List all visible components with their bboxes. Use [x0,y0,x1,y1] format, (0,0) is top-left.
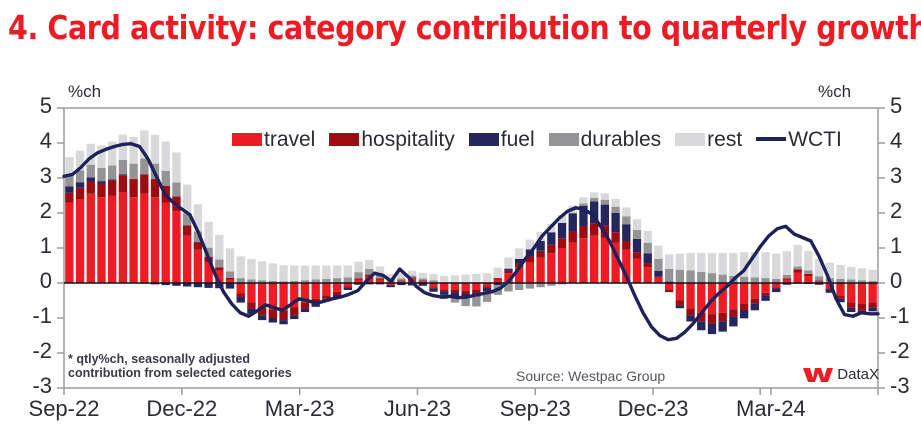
bar-segment [622,217,630,225]
bar-segment [504,270,512,273]
bar-segment [579,226,587,238]
bar-segment [558,248,566,283]
bar-segment [162,203,170,284]
bar-segment [301,309,309,313]
bar-segment [65,193,73,203]
bar-segment [515,248,523,259]
bar-segment [204,222,212,248]
bar-segment [344,288,352,290]
bar-segment [622,224,630,241]
bar-segment [312,266,320,280]
bar-segment [461,283,469,291]
bar-segment [87,165,95,178]
bar-segment [697,272,705,283]
bar-segment [279,311,287,320]
bar-segment [97,184,105,197]
bar-segment [719,275,727,283]
bar-segment [569,243,577,283]
bar-segment [847,302,855,308]
bar-segment [97,197,105,283]
bar-segment [590,223,598,236]
bar-segment [708,324,716,335]
bar-segment [836,265,844,279]
bar-segment [740,277,748,283]
bar-segment [87,182,95,194]
bar-segment [269,263,277,281]
bar-segment [729,309,737,316]
bar-segment [772,287,780,288]
bar-segment [354,278,362,279]
bar-segment [815,281,823,282]
bar-segment [172,183,180,197]
bar-segment [804,251,812,271]
bar-segment [569,213,577,231]
bar-segment [301,302,309,308]
bar-segment [162,171,170,186]
bar-segment [729,317,737,327]
bar-segment [676,254,684,270]
bar-segment [451,290,459,292]
bar-segment [654,246,662,259]
bar-segment [215,260,223,268]
bar-segment [633,239,641,252]
bar-segment [740,304,748,310]
bar-segment [97,181,105,184]
bar-segment [344,287,352,288]
bar-segment [386,285,394,287]
bar-segment [440,283,448,289]
bar-segment [536,251,544,258]
bar-segment [483,287,491,288]
bar-segment [579,204,587,206]
bar-segment [847,267,855,280]
bar-segment [772,289,780,293]
bar-segment [515,283,523,290]
bar-segment [504,257,512,268]
bar-segment [172,152,180,182]
bar-segment [751,283,759,299]
bar-segment [761,283,769,293]
bar-segment [279,320,287,324]
bar-segment [740,283,748,304]
bar-segment [868,308,876,312]
bar-segment [676,301,684,306]
bar-segment [847,283,855,302]
bar-segment [108,196,116,284]
bar-segment [129,179,137,197]
bar-segment [665,290,673,292]
bar-segment [237,294,245,298]
bar-segment [761,252,769,278]
bar-segment [676,270,684,283]
brand-logo: DataX [803,366,879,383]
bar-segment [494,278,502,279]
legend-item-hospitality[interactable]: hospitality [329,129,454,150]
source-label: Source: Westpac Group [516,368,665,384]
bar-segment [708,253,716,273]
bar-segment [65,186,73,192]
bar-group [65,130,877,334]
bar-segment [376,278,384,279]
bar-segment [451,275,459,283]
bar-segment [215,267,223,271]
bar-segment [472,283,480,290]
bar-segment [558,223,566,238]
bar-segment [804,276,812,283]
bar-segment [633,230,641,239]
bar-segment [633,252,641,258]
bar-segment [644,267,652,283]
bar-segment [429,287,437,288]
legend-item-fuel[interactable]: fuel [469,129,535,150]
bar-segment [483,273,491,283]
bar-segment [858,283,866,304]
bar-segment [151,135,159,164]
footnote: * qtly%ch, seasonally adjusted contribut… [68,352,292,380]
bar-segment [247,283,255,302]
bar-segment [108,179,116,180]
bar-segment [247,259,255,279]
bar-segment [708,273,716,283]
bar-segment [633,259,641,284]
bar-segment [172,211,180,283]
brand-name: DataX [837,366,879,383]
bar-segment [569,213,577,214]
bar-segment [140,194,148,283]
bar-segment [354,262,362,273]
legend-swatch [232,133,262,146]
legend-swatch [675,133,705,146]
legend-item-durables[interactable]: durables [549,129,662,150]
legend-item-rest[interactable]: rest [675,129,742,150]
chart-area: %ch %ch 543210-1-2-3 543210-1-2-3 Sep-22… [0,0,921,436]
bar-segment [686,283,694,308]
bar-segment [644,243,652,254]
bar-segment [419,281,427,282]
bar-segment [868,283,876,302]
bar-segment [719,313,727,321]
bar-segment [708,315,716,324]
bar-segment [644,231,652,243]
bar-segment [868,270,876,281]
bar-segment [183,225,191,236]
bar-segment [793,245,801,267]
bar-segment [333,292,341,295]
bar-segment [461,275,469,283]
bar-segment [322,266,330,279]
bar-segment [815,276,823,280]
bar-segment [697,321,705,330]
bar-segment [697,253,705,272]
bar-segment [119,192,127,283]
bar-segment [783,278,791,279]
bar-segment [665,269,673,282]
bar-segment [429,274,437,280]
bar-segment [440,276,448,283]
bar-segment [783,251,791,275]
bar-segment [590,192,598,198]
bar-segment [119,175,127,176]
bar-segment [440,291,448,295]
bar-segment [215,235,223,259]
legend-label: hospitality [361,129,454,150]
bar-segment [761,293,769,296]
bar-segment [76,199,84,283]
legend-label: durables [581,129,662,150]
bar-segment [237,283,245,294]
bar-segment [526,262,534,283]
legend-line-marker [756,137,786,141]
bar-segment [269,318,277,323]
bar-segment [558,238,566,248]
bar-segment [108,181,116,196]
bar-segment [237,297,245,303]
bar-segment [183,236,191,283]
bar-segment [654,259,662,271]
bar-segment [344,277,352,283]
bar-segment [108,165,116,179]
bar-segment [751,277,759,283]
legend-swatch [469,133,499,146]
bar-segment [547,232,555,245]
bar-segment [611,199,619,207]
legend-label: WCTI [788,129,842,150]
bar-segment [129,197,137,283]
bar-segment [783,275,791,279]
bar-segment [290,308,298,316]
legend-item-travel[interactable]: travel [232,129,315,150]
legend-label: rest [707,129,742,150]
bar-segment [729,283,737,309]
bar-segment [333,266,341,279]
bar-segment [644,263,652,267]
bar-segment [793,267,801,270]
bar-segment [76,182,84,188]
bar-segment [258,261,266,280]
bar-segment [472,290,480,292]
bar-segment [472,274,480,283]
bar-segment [686,308,694,315]
bar-segment [579,197,587,203]
bar-segment [740,310,748,318]
bar-segment [590,198,598,202]
bar-segment [654,271,662,277]
bar-segment [804,274,812,276]
bar-segment [847,308,855,312]
bar-segment [547,253,555,283]
bar-segment [611,207,619,213]
bar-segment [601,205,609,226]
bar-segment [579,238,587,283]
bar-segment [397,281,405,282]
bar-segment [793,273,801,284]
bar-segment [237,256,245,278]
bar-segment [87,177,95,181]
westpac-w-icon [803,366,833,383]
bar-segment [140,175,148,194]
bar-segment [504,269,512,271]
bar-segment [547,245,555,253]
bar-segment [408,271,416,276]
bar-segment [119,135,127,160]
legend-item-WCTI[interactable]: WCTI [756,129,842,150]
bar-segment [622,241,630,250]
bar-segment [601,238,609,284]
bar-segment [665,254,673,269]
bar-segment [301,266,309,281]
chart-legend: travelhospitalityfueldurablesrestWCTI [232,126,856,152]
bar-segment [290,266,298,281]
bar-segment [344,266,352,278]
bar-segment [858,268,866,280]
bar-segment [419,273,427,279]
legend-swatch [329,133,359,146]
bar-segment [719,321,727,332]
bar-segment [279,265,287,281]
bar-segment [751,303,759,310]
bar-segment [119,160,127,175]
legend-label: fuel [501,129,535,150]
bar-segment [622,207,630,216]
bar-segment [761,296,769,301]
legend-label: travel [264,129,315,150]
bar-segment [676,305,684,308]
bar-segment [76,188,84,199]
bar-segment [247,302,255,308]
bar-segment [322,283,330,295]
bar-segment [665,283,673,290]
bar-segment [312,283,320,299]
bar-segment [440,289,448,291]
bar-segment [365,260,373,269]
bar-segment [129,164,137,179]
bar-segment [601,193,609,199]
bar-segment [419,278,427,280]
bar-segment [290,315,298,319]
bar-segment [526,283,534,289]
bar-segment [611,232,619,243]
bar-segment [226,283,234,289]
bar-segment [333,283,341,292]
bar-segment [772,254,780,279]
bar-segment [868,302,876,308]
bar-segment [793,269,801,272]
bar-segment [686,253,694,271]
bar-segment [686,270,694,283]
bar-segment [87,194,95,283]
bar-segment [451,283,459,290]
bar-segment [461,291,469,294]
bar-segment [226,248,234,271]
bar-segment [644,253,652,263]
bar-segment [194,250,202,283]
bar-segment [611,213,619,232]
bar-segment [654,276,662,277]
legend-swatch [549,133,579,146]
bar-segment [536,258,544,283]
bar-segment [397,278,405,280]
bar-segment [354,272,362,278]
bar-segment [226,271,234,277]
bar-segment [162,142,170,171]
bar-segment [194,242,202,250]
bar-segment [719,253,727,275]
bar-segment [601,200,609,205]
bar-segment [97,168,105,181]
bar-segment [151,197,159,283]
bar-segment [386,285,394,286]
bar-segment [804,270,812,274]
bar-segment [836,283,844,295]
bar-segment [569,232,577,243]
bar-segment [226,278,234,280]
bar-segment [676,283,684,301]
bar-segment [494,268,502,279]
bar-segment [729,253,737,276]
bar-segment [472,297,480,307]
bar-segment [858,304,866,310]
bar-segment [429,289,437,292]
bar-segment [65,203,73,284]
bar-segment [129,137,137,164]
bar-segment [119,175,127,192]
bar-segment [751,299,759,304]
bar-segment [590,236,598,283]
bar-segment [269,309,277,318]
bar-segment [633,219,641,230]
bar-segment [258,315,266,320]
